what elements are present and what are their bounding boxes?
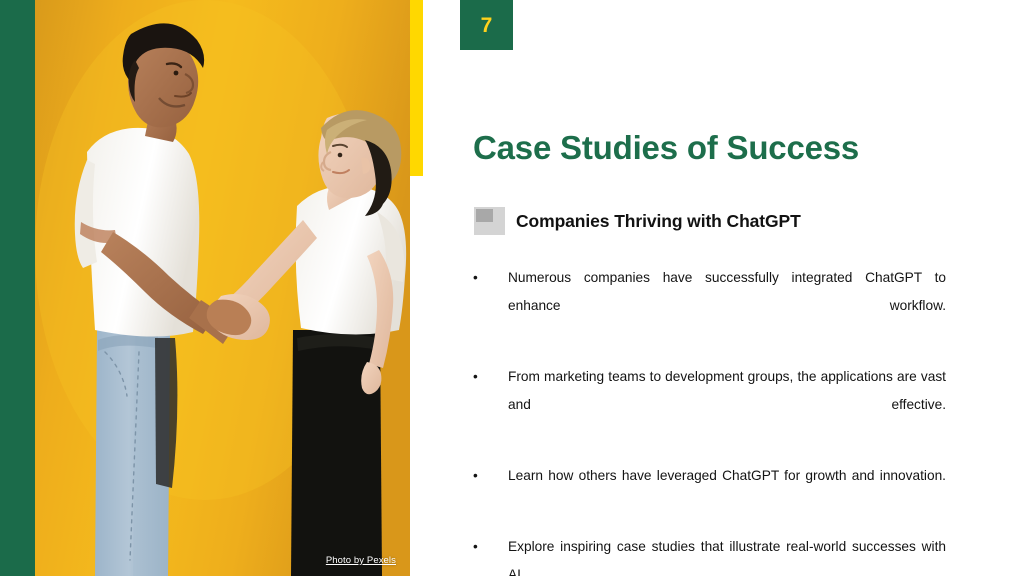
bullet-marker: • xyxy=(473,363,483,392)
list-item-text: From marketing teams to development grou… xyxy=(508,369,946,413)
bullet-marker: • xyxy=(473,462,483,491)
photo-credit-link[interactable]: Photo by Pexels xyxy=(326,555,396,566)
bullet-list: • Numerous companies have successfully i… xyxy=(470,250,946,576)
slide-number-text: 7 xyxy=(481,15,493,36)
list-item: • From marketing teams to development gr… xyxy=(470,363,946,449)
slide-photo: Photo by Pexels xyxy=(35,0,410,576)
list-item-text: Explore inspiring case studies that illu… xyxy=(508,539,946,576)
bullet-marker: • xyxy=(473,533,483,562)
left-green-bar xyxy=(0,0,35,576)
slide-number-badge: 7 xyxy=(460,0,513,50)
list-item-text: Learn how others have leveraged ChatGPT … xyxy=(508,468,946,483)
slide-title: Case Studies of Success xyxy=(473,130,953,166)
image-placeholder-icon xyxy=(474,207,505,235)
slide-canvas: Photo by Pexels 7 Case Studies of Succes… xyxy=(0,0,1024,576)
list-item-text: Numerous companies have successfully int… xyxy=(508,270,946,314)
yellow-accent-bar xyxy=(410,0,423,176)
list-item: • Learn how others have leveraged ChatGP… xyxy=(470,462,946,519)
list-item: • Explore inspiring case studies that il… xyxy=(470,533,946,576)
list-item: • Numerous companies have successfully i… xyxy=(470,264,946,350)
sub-heading-row: Companies Thriving with ChatGPT xyxy=(474,205,944,237)
sub-heading-text: Companies Thriving with ChatGPT xyxy=(516,211,801,232)
bullet-marker: • xyxy=(473,264,483,293)
handshake-photo-illustration xyxy=(35,0,410,576)
